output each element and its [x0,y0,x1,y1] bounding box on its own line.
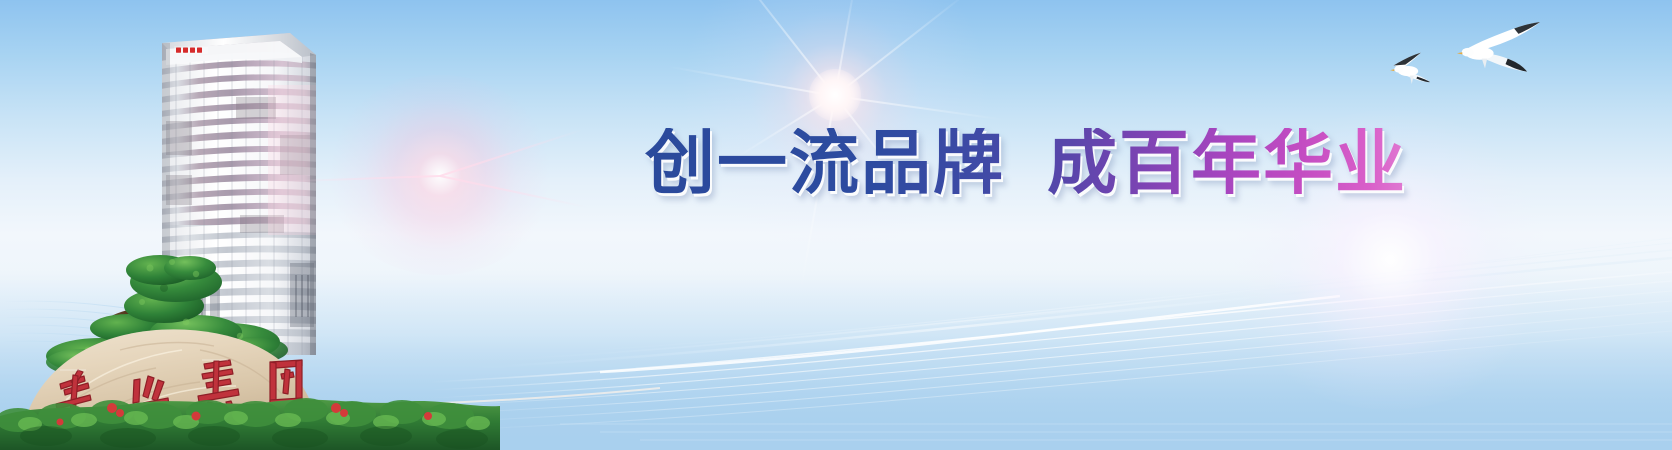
seagull-icon [1390,53,1430,84]
seagull-icon [1457,22,1540,72]
banner-slogan: 创一流品牌成百年华业 [645,128,1407,198]
rooftop-sign-icon [174,46,208,54]
monument-scene [0,210,600,450]
hedge-row [0,398,500,450]
slogan-part-2: 成百年华业 [1047,122,1407,204]
seagulls-group [1370,5,1570,115]
hero-banner: 创一流品牌成百年华业 [0,0,1672,450]
slogan-part-1: 创一流品牌 [645,122,1005,204]
